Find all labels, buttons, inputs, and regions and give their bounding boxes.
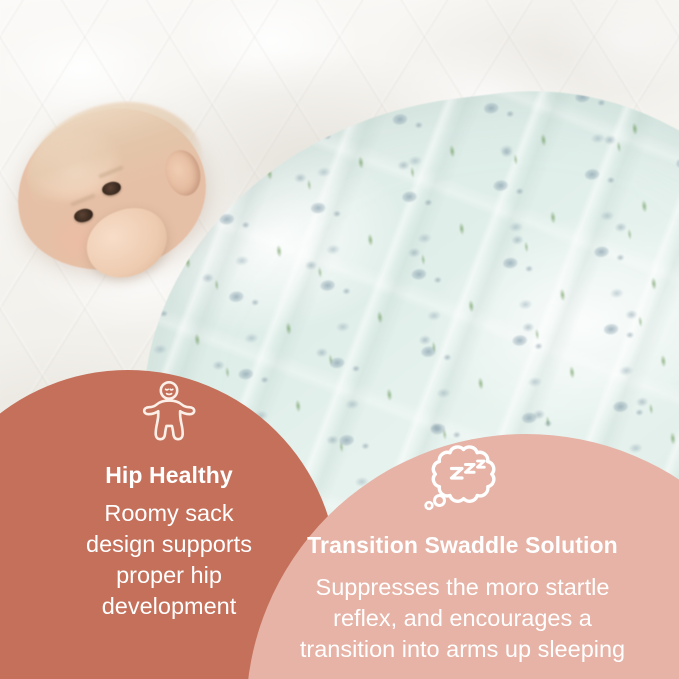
sleep-zzz-cloud-icon: [420, 442, 506, 512]
panel-body-transition-swaddle: Suppresses the moro startle reflex, and …: [246, 572, 679, 666]
baby-onesie-icon: [142, 380, 196, 442]
baby-onesie-icon-wrap: [0, 380, 338, 442]
feature-panel-transition-swaddle: Transition Swaddle Solution Suppresses t…: [246, 434, 679, 679]
panel-body-line: reflex, and encourages a: [246, 603, 679, 634]
panel-title-transition-swaddle: Transition Swaddle Solution: [246, 532, 679, 560]
panel-body-line: Suppresses the moro startle: [246, 572, 679, 603]
panel-body-line: transition into arms up sleeping: [246, 634, 679, 665]
product-feature-graphic: Hip Healthy Roomy sack design supports p…: [0, 0, 679, 679]
sleep-zzz-cloud-icon-wrap: [246, 442, 679, 512]
